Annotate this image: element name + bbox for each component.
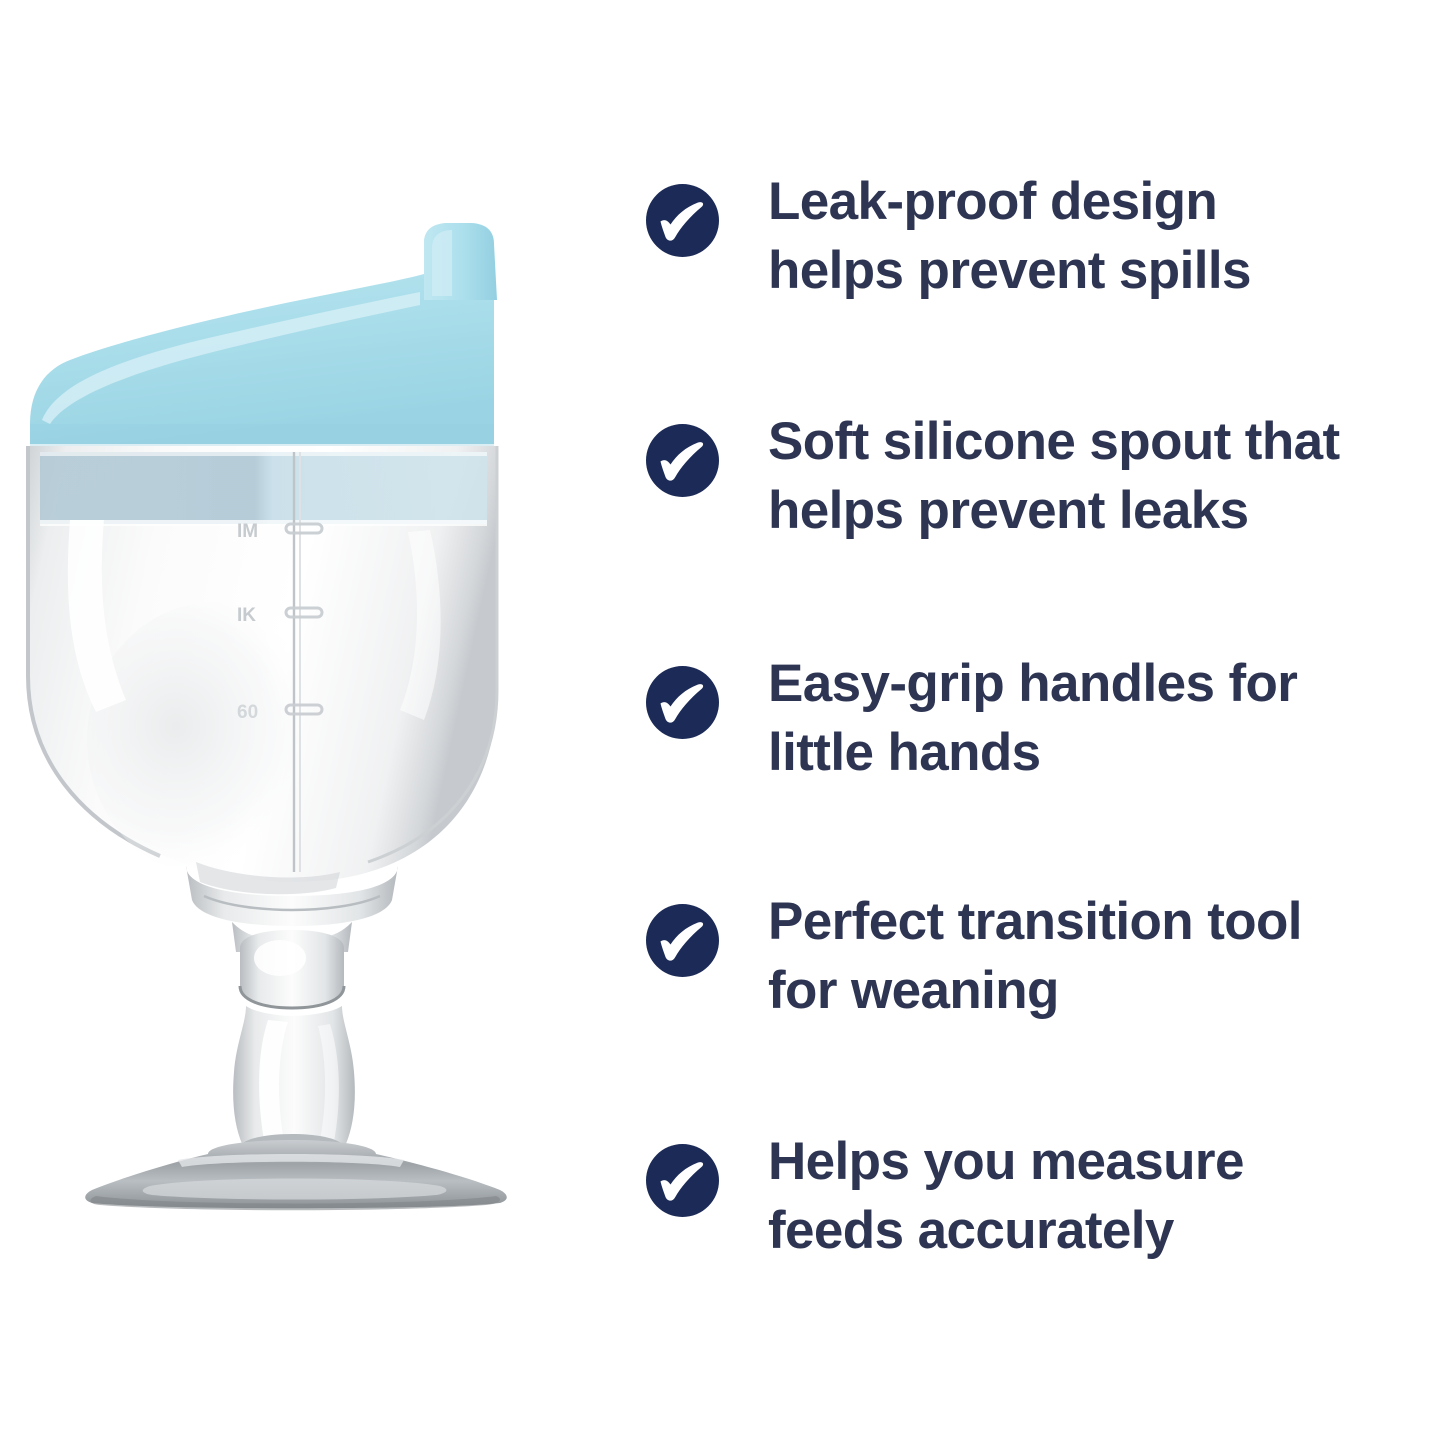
bowl-blue-band xyxy=(40,452,487,524)
knop-highlight xyxy=(254,940,306,976)
feature-item-measure-feeds: Helps you measure feeds accurately xyxy=(636,1128,1445,1266)
cup-bowl: IM IK 60 xyxy=(28,446,497,894)
feature-item-silicone-spout: Soft silicone spout that helps prevent l… xyxy=(636,408,1445,546)
feature-text: Helps you measure feeds accurately xyxy=(768,1128,1445,1266)
check-circle-icon xyxy=(646,666,719,739)
feature-text: Soft silicone spout that helps prevent l… xyxy=(768,408,1445,546)
check-circle-icon xyxy=(646,184,719,257)
product-image: IM IK 60 xyxy=(0,0,620,1445)
goblet-foot xyxy=(85,1140,507,1210)
check-circle-icon xyxy=(646,1144,719,1217)
silicone-spout-lid xyxy=(30,223,497,446)
feature-text: Easy-grip handles for little hands xyxy=(768,650,1445,788)
band-bottom-edge xyxy=(40,520,487,526)
mark-label-2: 60 xyxy=(237,702,258,723)
lid-underside-shade xyxy=(30,424,494,446)
bowl-inner-sheen xyxy=(87,602,343,878)
band-top-edge xyxy=(40,452,487,456)
check-circle-icon xyxy=(646,904,719,977)
spout-highlight xyxy=(432,230,452,296)
feature-item-leak-proof: Leak-proof design helps prevent spills xyxy=(636,168,1445,306)
mark-label-0: IM xyxy=(237,521,258,542)
feature-list: Leak-proof design helps prevent spills S… xyxy=(636,150,1445,1350)
check-circle-icon xyxy=(646,424,719,497)
feature-text: Leak-proof design helps prevent spills xyxy=(768,168,1445,306)
goblet-stem xyxy=(186,866,398,1164)
mark-label-1: IK xyxy=(237,605,256,626)
feature-text: Perfect transition tool for weaning xyxy=(768,888,1445,1026)
feature-item-easy-grip: Easy-grip handles for little hands xyxy=(636,650,1445,788)
sippy-cup-illustration: IM IK 60 xyxy=(0,0,620,1445)
infographic-page: IM IK 60 xyxy=(0,0,1445,1445)
feature-item-transition-tool: Perfect transition tool for weaning xyxy=(636,888,1445,1026)
